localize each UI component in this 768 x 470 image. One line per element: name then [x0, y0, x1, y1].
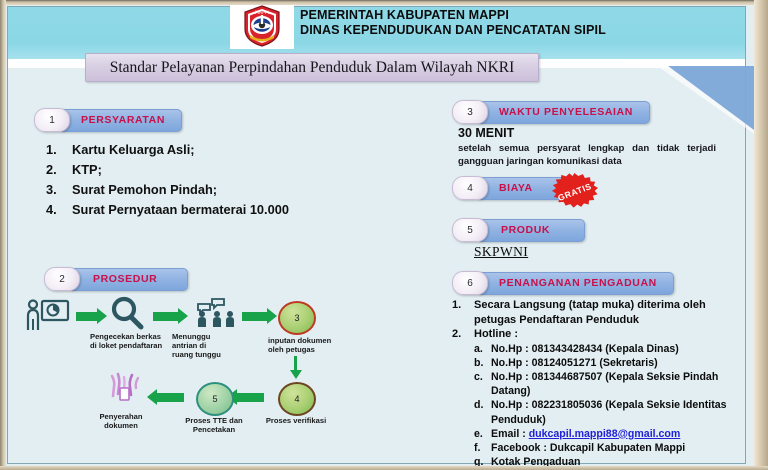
item-text: Secara Langsung (tatap muka) diterima ol… — [474, 298, 742, 327]
person-at-counter-icon — [26, 299, 70, 336]
svg-text:MAPPI: MAPPI — [255, 10, 269, 16]
gratis-stamp-badge: GRATIS — [551, 173, 598, 211]
magnifier-icon — [110, 296, 144, 335]
item-number: 2. — [22, 160, 72, 179]
pengaduan-list: 1.Secara Langsung (tatap muka) diterima … — [452, 298, 742, 470]
badge-number-1: 1 — [34, 108, 70, 132]
subtitle-ribbon: Standar Pelayanan Perpindahan Penduduk D… — [85, 53, 539, 82]
list-item-email: e. Email : dukcapil.mappi88@gmail.com — [474, 427, 742, 441]
email-label: Email : — [491, 428, 529, 440]
email-link[interactable]: dukcapil.mappi88@gmail.com — [529, 428, 681, 440]
corner-triangle-decoration — [668, 66, 754, 130]
item-text: Facebook : Dukcapil Kabupaten Mappi — [491, 441, 742, 455]
page-edge-top — [0, 0, 768, 5]
badge-number-3: 3 — [452, 100, 488, 124]
flow-caption-5: Proses TTE dan Pencetakan — [178, 416, 250, 434]
badge-number-4: 4 — [452, 176, 488, 200]
persyaratan-list: 1.Kartu Keluarga Asli; 2.KTP; 3.Surat Pe… — [22, 140, 412, 220]
flow-step-3-number: 3 — [294, 313, 299, 323]
waktu-description: setelah semua persyarat lengkap dan tida… — [458, 142, 716, 168]
infographic-page: MAPPI PEMERINTAH KABUPATEN MAPPI DINAS K… — [0, 0, 768, 470]
badge-label-persyaratan: PERSYARATAN — [58, 109, 182, 132]
badge-number-5: 5 — [452, 218, 488, 242]
item-text: No.Hp : 081343428434 (Kepala Dinas) — [491, 342, 742, 356]
item-text: Surat Pernyataan bermaterai 10.000 — [72, 200, 412, 219]
item-number: d. — [474, 398, 491, 426]
flow-caption-1: Pengecekan berkas di loket pendaftaran — [90, 332, 168, 350]
item-text: Kartu Keluarga Asli; — [72, 140, 412, 159]
item-text: No.Hp : 08124051271 (Sekretaris) — [491, 356, 742, 370]
list-item: 1.Kartu Keluarga Asli; — [22, 140, 412, 159]
item-number: 1. — [22, 140, 72, 159]
flow-arrow-4 — [294, 356, 297, 371]
item-number: a. — [474, 342, 491, 356]
badge-number-6: 6 — [452, 271, 488, 295]
mappi-regency-emblem-icon: MAPPI — [230, 3, 294, 49]
badge-label-produk: PRODUK — [476, 219, 585, 242]
page-edge-left — [0, 0, 6, 470]
list-item: 1.Secara Langsung (tatap muka) diterima … — [452, 298, 742, 327]
list-item: b.No.Hp : 08124051271 (Sekretaris) — [474, 356, 742, 370]
flow-arrow-3 — [242, 312, 268, 321]
flow-arrow-5 — [236, 393, 264, 402]
section-badge-waktu[interactable]: 3 WAKTU PENYELESAIAN — [452, 101, 650, 123]
page-title: PEMERINTAH KABUPATEN MAPPI DINAS KEPENDU… — [300, 8, 730, 38]
flow-caption-4: Proses verifikasi — [260, 416, 332, 425]
item-text: No.Hp : 082231805036 (Kepala Seksie Iden… — [491, 398, 742, 426]
section-badge-persyaratan[interactable]: 1 PERSYARATAN — [34, 109, 182, 131]
flow-step-4-number: 4 — [294, 394, 299, 404]
item-number: 4. — [22, 200, 72, 219]
flow-caption-3: inputan dokumen oleh petugas — [268, 336, 334, 354]
flow-caption-6: Penyerahan dokumen — [86, 412, 156, 430]
flow-step-5-circle: 5 — [196, 382, 234, 416]
badge-number-2: 2 — [44, 267, 80, 291]
list-item: a.No.Hp : 081343428434 (Kepala Dinas) — [474, 342, 742, 356]
flow-step-3-circle: 3 — [278, 301, 316, 335]
list-item: f.Facebook : Dukcapil Kabupaten Mappi — [474, 441, 742, 455]
subtitle-text: Standar Pelayanan Perpindahan Penduduk D… — [110, 59, 515, 77]
flow-caption-2: Menunggu antrian di ruang tunggu — [172, 332, 228, 359]
item-number: c. — [474, 370, 491, 398]
gov-title-line1: PEMERINTAH KABUPATEN MAPPI — [300, 8, 730, 23]
list-item: d.No.Hp : 082231805036 (Kepala Seksie Id… — [474, 398, 742, 426]
flow-arrow-6 — [156, 393, 184, 402]
list-item: 3.Surat Pemohon Pindah; — [22, 180, 412, 199]
list-item: c.No.Hp : 081344687507 (Kepala Seksie Pi… — [474, 370, 742, 398]
flow-step-4-circle: 4 — [278, 382, 316, 416]
item-number: 3. — [22, 180, 72, 199]
list-item: 2.KTP; — [22, 160, 412, 179]
flow-arrow-2 — [153, 312, 179, 321]
badge-label-waktu: WAKTU PENYELESAIAN — [476, 101, 650, 124]
produk-value: SKPWNI — [474, 244, 528, 260]
waktu-duration: 30 MENIT — [458, 126, 726, 140]
item-number: b. — [474, 356, 491, 370]
waktu-content: 30 MENIT setelah semua persyarat lengkap… — [458, 126, 726, 168]
list-item: 2.Hotline : — [452, 327, 742, 342]
item-text: KTP; — [72, 160, 412, 179]
item-number: e. — [474, 427, 491, 441]
gov-title-line2: DINAS KEPENDUDUKAN DAN PENCATATAN SIPIL — [300, 23, 730, 38]
badge-label-pengaduan: PENANGANAN PENGADUAN — [476, 272, 674, 295]
badge-label-prosedur: PROSEDUR — [68, 268, 188, 291]
handover-document-icon — [104, 372, 146, 411]
flow-arrow-1 — [76, 312, 98, 321]
section-badge-prosedur[interactable]: 2 PROSEDUR — [44, 268, 188, 290]
item-number: f. — [474, 441, 491, 455]
item-number: 1. — [452, 298, 474, 327]
item-text: Hotline : — [474, 327, 742, 342]
item-number: 2. — [452, 327, 474, 342]
section-badge-pengaduan[interactable]: 6 PENANGANAN PENGADUAN — [452, 272, 674, 294]
section-badge-produk[interactable]: 5 PRODUK — [452, 219, 585, 241]
item-text: Surat Pemohon Pindah; — [72, 180, 412, 199]
people-waiting-icon — [192, 296, 236, 333]
item-text: No.Hp : 081344687507 (Kepala Seksie Pind… — [491, 370, 742, 398]
prosedur-flowchart: Pengecekan berkas di loket pendaftaran M… — [20, 294, 430, 439]
flow-step-5-number: 5 — [212, 394, 217, 404]
list-item: 4.Surat Pernyataan bermaterai 10.000 — [22, 200, 412, 219]
page-edge-right — [754, 0, 768, 470]
page-edge-bottom — [0, 466, 768, 470]
